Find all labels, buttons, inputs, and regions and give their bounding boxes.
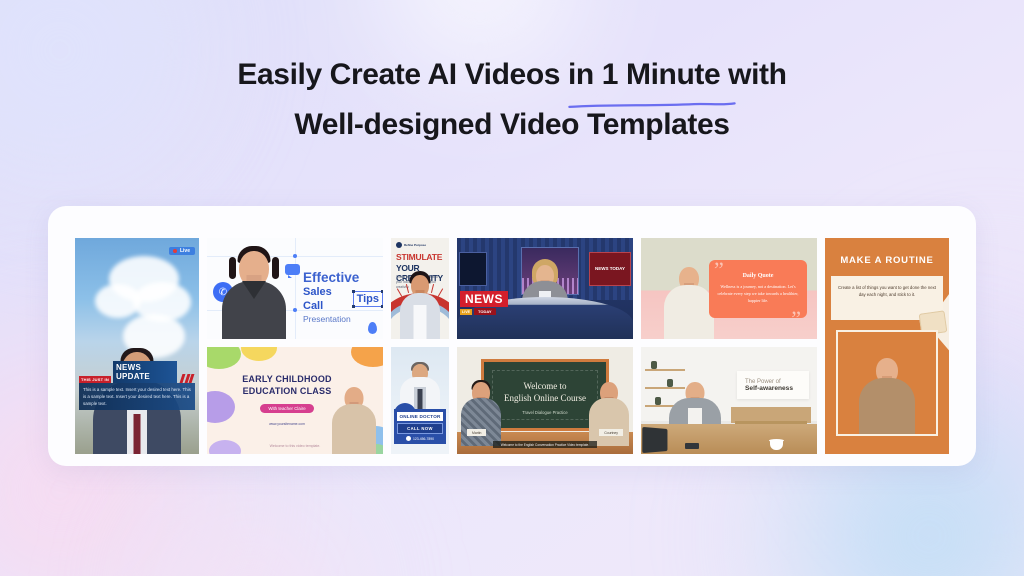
template-card-online-doctor[interactable]: 20% off ONLINE DOCTOR CALL NOW 123-456-7…: [391, 347, 449, 454]
speaker-body: [664, 285, 714, 339]
news-banner-sub: LIVE TODAY: [460, 308, 508, 315]
studio-side-screen-left: [459, 252, 487, 286]
teacher-body: [332, 404, 376, 454]
plant-icon: [655, 397, 661, 405]
live-label: Live: [180, 248, 190, 254]
presenter-hair-left: [229, 257, 236, 279]
sales-call-text-block: Effective Sales Call Tips Presentation: [303, 270, 383, 325]
doctor-info-panel: ONLINE DOCTOR CALL NOW 123-456-7890: [394, 409, 446, 444]
quote-box: ” ” Daily Quote Wellness is a journey, n…: [709, 260, 807, 318]
news-tag: THIS JUST IN: [79, 376, 111, 383]
call-now-button[interactable]: CALL NOW: [397, 423, 443, 434]
routine-title: MAKE A ROUTINE: [825, 255, 949, 266]
speaker-figure: [663, 253, 715, 339]
lower-third-banner: THIS JUST IN NEWS UPDATE This is a sampl…: [79, 361, 195, 410]
self-line-2: Self-awareness: [745, 385, 809, 392]
daily-quote-scene: ” ” Daily Quote Wellness is a journey, n…: [641, 238, 817, 339]
quote-title: Daily Quote: [709, 273, 807, 279]
news-headline: NEWS UPDATE: [113, 361, 177, 383]
stripes-decor-icon: [179, 374, 195, 383]
headline-highlight-text: in 1 Minute with: [568, 58, 787, 91]
english-line-2: English Online Course: [484, 392, 606, 405]
presenter-shirt: [414, 305, 427, 339]
chat-bubble-icon: [285, 264, 300, 275]
self-awareness-scene: The Power of Self-awareness: [641, 347, 817, 454]
template-card-self-awareness[interactable]: The Power of Self-awareness: [641, 347, 817, 454]
english-subtitle: Welcome to the English Conversation Prac…: [493, 441, 597, 448]
routine-body: Create a list of things you want to get …: [831, 276, 943, 306]
early-line-1: EARLY CHILDHOOD: [233, 373, 341, 385]
student-left-body: [461, 398, 501, 446]
student-right-body: [589, 398, 629, 446]
phone-device-icon: [685, 443, 699, 449]
anchor-dot[interactable]: [293, 308, 297, 312]
cloud-shape: [95, 284, 141, 318]
early-childhood-scene: EARLY CHILDHOOD EDUCATION CLASS With tea…: [207, 347, 383, 454]
template-card-news-update[interactable]: Live THIS JUST IN NEWS UPDATE This is a …: [75, 238, 199, 454]
live-badge: Live: [169, 247, 195, 255]
plant-icon: [651, 361, 657, 369]
early-childhood-text-block: EARLY CHILDHOOD EDUCATION CLASS With tea…: [233, 373, 341, 426]
template-card-daily-quote[interactable]: ” ” Daily Quote Wellness is a journey, n…: [641, 238, 817, 339]
quote-text: Wellness is a journey, not a destination…: [717, 283, 799, 304]
news-today-label: TODAY: [474, 308, 496, 315]
location-pin-icon: [368, 322, 377, 334]
sales-line-2: Sales Call Tips: [303, 285, 383, 313]
studio-side-screen-right: NEWS TODAY: [589, 252, 631, 286]
news-live-label: LIVE: [460, 309, 472, 315]
studio-screen-text: NEWS TODAY: [595, 266, 625, 272]
template-card-english-course[interactable]: Welcome to English Online Course Travel …: [457, 347, 633, 454]
quote-mark-icon: ”: [791, 308, 801, 330]
routine-photo-frame: [836, 330, 938, 436]
headline-line-1: Easily Create AI Videos in 1 Minute with: [0, 50, 1024, 100]
stimulate-line-1: STIMULATE: [396, 252, 442, 262]
template-card-early-childhood[interactable]: EARLY CHILDHOOD EDUCATION CLASS With tea…: [207, 347, 383, 454]
phone-number: 123-456-7890: [413, 437, 434, 441]
english-course-scene: Welcome to English Online Course Travel …: [457, 347, 633, 454]
record-dot-icon: [173, 249, 177, 253]
make-a-routine-scene: MAKE A ROUTINE Create a list of things y…: [825, 238, 949, 454]
reporter-tie: [134, 414, 141, 454]
presenter-hair-right: [272, 257, 279, 279]
routine-model-body: [859, 378, 915, 434]
logo-mark-icon: [396, 242, 402, 248]
website-url: www.yoursitename.com: [233, 422, 341, 426]
blob-decor: [351, 347, 383, 367]
headline-line-1-text: Easily Create AI Videos: [237, 58, 568, 91]
doctor-title: ONLINE DOCTOR: [397, 412, 443, 421]
template-card-stimulate-creativity[interactable]: Refine Purpose STIMULATE YOUR CREATIVITY…: [391, 238, 449, 339]
laptop-icon: [642, 427, 667, 453]
underline-stroke-icon: [568, 102, 736, 109]
news-body-text: This is a sample text. Insert your desir…: [79, 383, 195, 410]
template-card-make-a-routine[interactable]: MAKE A ROUTINE Create a list of things y…: [825, 238, 949, 454]
teacher-figure: [331, 372, 377, 454]
selected-text-box[interactable]: Tips: [353, 291, 383, 307]
stimulate-creativity-scene: Refine Purpose STIMULATE YOUR CREATIVITY…: [391, 238, 449, 339]
sales-line-1: Effective: [303, 270, 383, 285]
selected-text: Tips: [357, 293, 379, 305]
brand-name: Refine Purpose: [404, 243, 426, 247]
template-gallery-panel: Live THIS JUST IN NEWS UPDATE This is a …: [48, 206, 976, 466]
news-update-scene: Live THIS JUST IN NEWS UPDATE This is a …: [75, 238, 199, 454]
phone-row: 123-456-7890: [397, 436, 443, 441]
early-line-2: EDUCATION CLASS: [233, 385, 341, 397]
news-studio-scene: NEWS TODAY NEWS LIVE TODAY: [457, 238, 633, 339]
english-line-3: Travel Dialogue Practice: [484, 410, 606, 415]
name-tag-left: Martin: [467, 429, 486, 436]
blob-decor: [241, 347, 277, 361]
name-tag-right: Courtney: [599, 429, 623, 436]
news-banner-label: NEWS: [460, 291, 508, 307]
headline-highlight: in 1 Minute with: [568, 50, 787, 100]
template-card-news-studio[interactable]: NEWS TODAY NEWS LIVE TODAY: [457, 238, 633, 339]
template-grid: Live THIS JUST IN NEWS UPDATE This is a …: [62, 220, 962, 452]
presenter-figure: [221, 243, 287, 339]
wall-plaque: The Power of Self-awareness: [737, 371, 809, 399]
sales-call-scene: ✆ Effective Sales Call Tips: [207, 238, 383, 339]
teacher-badge: With teacher Claire: [260, 404, 313, 413]
online-doctor-scene: 20% off ONLINE DOCTOR CALL NOW 123-456-7…: [391, 347, 449, 454]
sales-line-2-text: Sales Call: [303, 285, 351, 313]
brand-logo: Refine Purpose: [396, 242, 426, 248]
headline-line-2: Well-designed Video Templates: [0, 100, 1024, 150]
blob-decor: [207, 347, 241, 369]
page-title: Easily Create AI Videos in 1 Minute with…: [0, 50, 1024, 150]
lower-third-header: THIS JUST IN NEWS UPDATE: [79, 361, 195, 383]
side-bench: [731, 407, 811, 423]
blob-decor: [207, 391, 235, 423]
news-banner: NEWS LIVE TODAY: [460, 291, 508, 315]
template-card-sales-call[interactable]: ✆ Effective Sales Call Tips: [207, 238, 383, 339]
phone-icon: [406, 436, 411, 441]
anchor-dot[interactable]: [293, 254, 297, 258]
